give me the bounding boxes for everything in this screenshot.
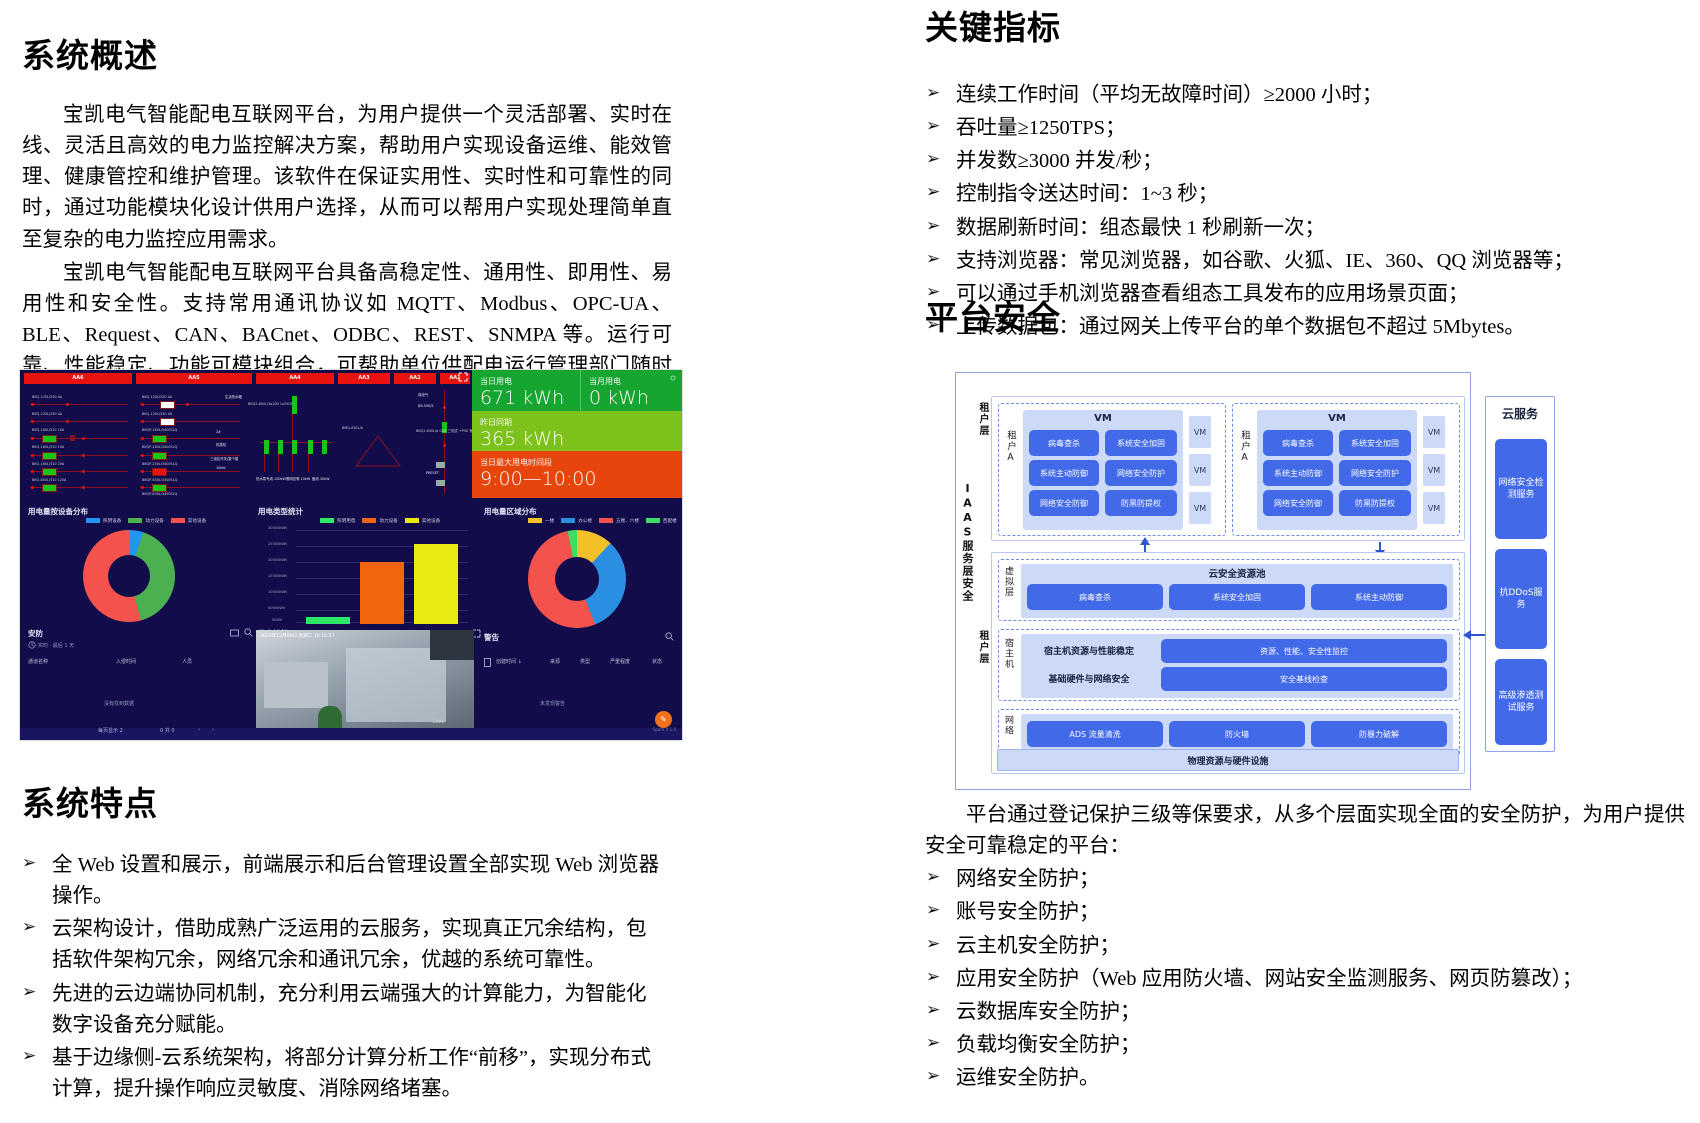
- camera-icon[interactable]: [230, 628, 239, 637]
- chart-title-device-distribution: 用电量按设备分布: [28, 506, 88, 517]
- chip-network-defense[interactable]: 网络安全防御: [1263, 490, 1333, 516]
- host-layer-strip: 宿主机 宿主机资源与性能稳定 基础硬件与网络安全 资源、性能、安全性监控 安全基…: [998, 629, 1460, 701]
- iaas-layer-label: IAAS服务层安全: [959, 482, 975, 603]
- chip-virus-scan[interactable]: 病毒查杀: [1027, 584, 1163, 610]
- list-item: ➢控制指令送达时间：1~3 秒；: [910, 179, 1700, 210]
- clock-icon: [28, 641, 36, 649]
- single-line-diagram: AA6 AA5 AA4 AA3 AA2 AA1 BKQ-125L/330 4A …: [20, 370, 472, 498]
- list-item: ➢云数据库安全防护；: [910, 997, 1700, 1028]
- side-vm: VM: [1423, 416, 1445, 448]
- bar-chart-usage-type: 30000kWh 25000kWh 20000kWh 15000kWh 1000…: [268, 528, 468, 624]
- cloud-services-panel: 云服务 网络安全检测服务 抗DDoS服务 高级渗透测试服务: [1485, 396, 1555, 752]
- arrow-bullet-icon: ➢: [926, 81, 940, 107]
- device-label: BKQ-800L/310 125A: [32, 478, 66, 482]
- network-layer-panel: ADS 流量清洗 防火墙 防暴力破解: [1021, 714, 1453, 754]
- arrow-bullet-icon: ➢: [926, 965, 940, 991]
- chip-system-hardening[interactable]: 系统安全加固: [1169, 584, 1305, 610]
- chip-network-defense[interactable]: 网络安全防御: [1029, 490, 1099, 516]
- vm-label: VM: [1257, 410, 1417, 426]
- cabinet-header: AA2: [394, 373, 436, 384]
- arrow-left-icon: [1463, 629, 1473, 641]
- side-vm: VM: [1423, 454, 1445, 486]
- security-text-block: 平台通过登记保护三级等保要求，从多个层面实现全面的安全防护，为用户提供安全可靠稳…: [900, 800, 1700, 1096]
- list-item: ➢并发数≥3000 并发/秒；: [910, 146, 1700, 177]
- arrow-bullet-icon: ➢: [926, 247, 940, 273]
- sld-note: 照明总等 10kW: [286, 476, 310, 481]
- panel-title-security: 安防: [28, 628, 43, 639]
- chip-system-hardening[interactable]: 系统安全加固: [1339, 430, 1411, 456]
- device-label: BKQ-125L/330 4A: [32, 412, 62, 416]
- chip-system-hardening[interactable]: 系统安全加固: [1105, 430, 1177, 456]
- host-label-resource: 宿主机资源与性能稳定: [1025, 644, 1153, 657]
- arrow-bullet-icon: ➢: [926, 898, 940, 924]
- warn-col-severity: 严重程度: [610, 658, 630, 665]
- page-title-metrics: 关键指标: [925, 10, 1061, 46]
- arrow-bullet-icon: ➢: [22, 980, 36, 1006]
- arrow-bullet-icon: ➢: [926, 865, 940, 891]
- arrow-bullet-icon: ➢: [926, 214, 940, 240]
- warn-empty-state: 未发现警告: [540, 700, 565, 707]
- list-item: ➢支持浏览器：常见浏览器，如谷歌、火狐、IE、360、QQ 浏览器等；: [910, 246, 1700, 277]
- chip-anti-brute-force[interactable]: 防暴力破解: [1311, 721, 1447, 747]
- sld-note: 热泵机: [216, 442, 226, 447]
- arrow-bullet-icon: ➢: [926, 114, 940, 140]
- side-vm: VM: [1189, 416, 1211, 448]
- host-layer-panel: 宿主机资源与性能稳定 基础硬件与网络安全 资源、性能、安全性监控 安全基线检查: [1021, 634, 1453, 698]
- panel-title-warning: 警告: [484, 632, 499, 643]
- list-item: ➢应用安全防护（Web 应用防火墙、网站安全监测服务、网页防篡改）；: [910, 964, 1700, 995]
- chip-resource-monitor[interactable]: 资源、性能、安全性监控: [1161, 639, 1447, 663]
- device-label: BKQ-160L/310 10A: [32, 445, 64, 449]
- kpi-today-usage: 当日用电 671 kWh: [472, 370, 580, 411]
- physical-layer-bar: 物理资源与硬件设施: [997, 749, 1459, 771]
- arrow-bullet-icon: ➢: [926, 1064, 940, 1090]
- list-item: ➢数据刷新时间：组态最快 1 秒刷新一次；: [910, 213, 1700, 244]
- warn-col-created: 创建时间 ↓: [496, 658, 522, 665]
- vm-group-2: VM 病毒查杀 系统安全加固 系统主动防御 网络安全防护 网络安全防御 防黑防提…: [1257, 410, 1417, 530]
- device-label: BKQP-630L/3400SLQ: [142, 478, 177, 482]
- alarm-col-channel: 通道名称: [28, 658, 48, 665]
- tenant-a-2: 租户A VM 病毒查杀 系统安全加固 系统主动防御 网络安全防护 网络安全防御 …: [1232, 403, 1460, 536]
- device-label: BKQ2-800L/3a200 1x250A: [248, 402, 293, 406]
- list-item: ➢云主机安全防护；: [910, 931, 1700, 962]
- device-label: BKQ-160L/310 20A: [32, 462, 64, 466]
- vm-group-1: VM 病毒查杀 系统安全加固 系统主动防御 网络安全防护 网络安全防御 防黑防提…: [1023, 410, 1183, 530]
- chip-active-defense[interactable]: 系统主动防御: [1311, 584, 1447, 610]
- cloud-service-penetration-test[interactable]: 高级渗透测试服务: [1495, 659, 1547, 745]
- footer-total: 0 共 0: [160, 727, 175, 734]
- page-title-security: 平台安全: [925, 300, 1061, 336]
- list-item: ➢负载均衡安全防护；: [910, 1030, 1700, 1061]
- arrow-bullet-icon: ➢: [22, 915, 36, 941]
- video-timestamp: 2020年12月08日 星期二 10:16:57: [260, 633, 335, 639]
- left-column: 系统概述 宝凯电气智能配电互联网平台，为用户提供一个灵活部署、实时在线、灵活且高…: [0, 0, 760, 1123]
- tenant-layer-label-top: 租户层: [975, 402, 990, 437]
- kpi-tiles: 当日用电 671 kWh 当月用电 0 kWh 昨日同期 365 kWh 当日最…: [472, 370, 682, 498]
- transformer-symbol: [350, 432, 406, 472]
- cabinet-header: AA3: [338, 373, 390, 384]
- tenant-a-1: 租户A VM 病毒查杀 系统安全加固 系统主动防御 网络安全防护 网络安全防御 …: [998, 403, 1226, 536]
- list-item: ➢云架构设计，借助成熟广泛运用的云服务，实现真正冗余结构，包括软件架构冗余，网络…: [6, 914, 666, 976]
- security-paragraph: 平台通过登记保护三级等保要求，从多个层面实现全面的安全防护，为用户提供安全可靠稳…: [925, 800, 1685, 862]
- kpi-peak-period: 当日最大用电时间段 9:00—10:00: [472, 451, 682, 498]
- list-item: ➢吞吐量≥1250TPS；: [910, 113, 1700, 144]
- chart-legend-device: 照明设备 动力设备 其他设备: [86, 518, 206, 524]
- list-item: ➢先进的云边端协同机制，充分利用云端强大的计算能力，为智能化数字设备充分赋能。: [6, 979, 666, 1041]
- video-feed[interactable]: 2020年12月08日 星期二 10:16:57 Cam1: [256, 630, 474, 740]
- list-item: ➢账号安全防护；: [910, 897, 1700, 928]
- arrow-bullet-icon: ➢: [926, 932, 940, 958]
- tenant-layer-label-bottom: 租户层: [975, 630, 990, 665]
- arrow-bullet-icon: ➢: [22, 1044, 36, 1070]
- arrow-bullet-icon: ➢: [926, 180, 940, 206]
- arrow-bullet-icon: ➢: [926, 147, 940, 173]
- security-list: ➢网络安全防护； ➢账号安全防护； ➢云主机安全防护； ➢应用安全防护（Web …: [900, 864, 1700, 1094]
- cloud-service-network-detection[interactable]: 网络安全检测服务: [1495, 439, 1547, 539]
- arrow-bullet-icon: ➢: [22, 851, 36, 877]
- settings-icon[interactable]: [668, 373, 678, 383]
- chip-active-defense[interactable]: 系统主动防御: [1029, 460, 1099, 486]
- cloud-services-title: 云服务: [1486, 397, 1554, 428]
- chart-title-area-distribution: 用电量区域分布: [484, 506, 537, 517]
- side-vm: VM: [1189, 492, 1211, 524]
- arrow-bullet-icon: ➢: [926, 998, 940, 1024]
- search-icon[interactable]: [665, 632, 674, 641]
- footer-page-size[interactable]: 每页显示 2: [98, 727, 123, 734]
- overview-paragraph-1: 宝凯电气智能配电互联网平台，为用户提供一个灵活部署、实时在线、灵活且高效的电力监…: [22, 100, 672, 256]
- alarm-empty-state: 没有找到数据: [104, 700, 134, 707]
- features-list: ➢全 Web 设置和展示，前端展示和后台管理设置全部实现 Web 浏览器操作。 …: [6, 850, 666, 1107]
- arrow-up-icon: [1139, 537, 1151, 547]
- pool-title: 云安全资源池: [1021, 564, 1453, 581]
- page-title-overview: 系统概述: [22, 38, 158, 74]
- chart-legend-area: 一楼 办公楼 五楼、六楼 西配楼: [528, 518, 677, 524]
- device-label: BKQP-630L/3400SLQ: [142, 492, 177, 496]
- warn-col-source: 来源: [550, 658, 560, 665]
- sld-note: 2#: [216, 430, 221, 434]
- device-label: BKQ-160L/310 10A: [32, 428, 64, 432]
- sld-note: 10kW: [216, 466, 226, 470]
- sld-note: 热水泵专用 100kW: [256, 476, 286, 481]
- list-item: ➢网络安全防护；: [910, 864, 1700, 895]
- document-icon: [484, 658, 491, 667]
- page-title-features: 系统特点: [22, 786, 158, 822]
- cabinet-header: AA6: [24, 373, 132, 384]
- chip-anti-privilege-escalation[interactable]: 防黑防提权: [1105, 490, 1177, 516]
- chip-virus-scan[interactable]: 病毒查杀: [1263, 430, 1333, 456]
- sld-note: 生活热水箱: [225, 394, 242, 399]
- device-label: BKQP-250L/3400SLQ: [142, 462, 177, 466]
- device-label: BKQP-160L/3400SLQ: [142, 445, 177, 449]
- sld-note: 三相总开关/整个楼: [210, 456, 238, 461]
- alarm-subtitle: 实时 · 最后 1 天: [38, 642, 74, 649]
- edit-fab-button[interactable]: ✎: [655, 711, 672, 728]
- tenant-name: 租户A: [1238, 430, 1251, 465]
- infrastructure-container: 虚拟层 云安全资源池 病毒查杀 系统安全加固 系统主动防御 宿主机 宿主机资源与…: [991, 552, 1465, 774]
- host-label-hardware: 基础硬件与网络安全: [1025, 672, 1153, 685]
- warn-col-type: 类型: [580, 658, 590, 665]
- chip-anti-privilege-escalation[interactable]: 防黑防提权: [1339, 490, 1411, 516]
- cabinet-header: AA5: [136, 373, 252, 384]
- slide-page: 系统概述 宝凯电气智能配电互联网平台，为用户提供一个灵活部署、实时在线、灵活且高…: [0, 0, 1700, 1123]
- virtual-layer-strip: 虚拟层 云安全资源池 病毒查杀 系统安全加固 系统主动防御: [998, 559, 1460, 621]
- network-layer-label: 网络: [1003, 715, 1015, 736]
- chip-ads-traffic-cleaning[interactable]: ADS 流量清洗: [1027, 721, 1163, 747]
- search-icon[interactable]: [244, 628, 253, 637]
- chip-active-defense[interactable]: 系统主动防御: [1263, 460, 1333, 486]
- cabinet-header: AA4: [256, 373, 334, 384]
- chip-baseline-check[interactable]: 安全基线检查: [1161, 667, 1447, 691]
- alarm-col-time: 入侵时间: [116, 658, 136, 665]
- footer-next-page[interactable]: ›: [212, 727, 214, 733]
- sld-note: 备用 30kW: [312, 476, 330, 481]
- kpi-yesterday-usage: 昨日同期 365 kWh: [472, 411, 682, 451]
- security-architecture-diagram: IAAS服务层安全 租户层 租户层 租户A VM 病毒查杀 系统安全加固 系统主…: [955, 372, 1555, 790]
- footer-prev-page[interactable]: ‹: [198, 727, 200, 733]
- virtual-layer-label: 虚拟层: [1003, 566, 1015, 598]
- tenant-container: 租户A VM 病毒查杀 系统安全加固 系统主动防御 网络安全防护 网络安全防御 …: [991, 396, 1465, 541]
- list-item: ➢运维安全防护。: [910, 1063, 1700, 1094]
- kpi-month-usage: 当月用电 0 kWh: [580, 370, 682, 411]
- warn-col-status: 状态: [652, 658, 662, 665]
- chart-title-usage-type: 用电类型统计: [258, 506, 303, 517]
- chip-network-protection[interactable]: 网络安全防护: [1339, 460, 1411, 486]
- arrow-bullet-icon: ➢: [926, 1031, 940, 1057]
- list-item: ➢基于边缘侧-云系统架构，将部分计算分析工作“前移”，实现分布式计算，提升操作响…: [6, 1043, 666, 1105]
- vm-label: VM: [1023, 410, 1183, 426]
- footer-version: Spare V 1.0: [653, 727, 676, 732]
- cloud-security-pool: 云安全资源池 病毒查杀 系统安全加固 系统主动防御: [1021, 564, 1453, 618]
- side-vm: VM: [1423, 492, 1445, 524]
- device-label: BKQ-125L/330 4A: [142, 395, 172, 399]
- chart-legend-usage-type: 照明用电 动力设备 其他设备: [320, 518, 440, 524]
- chip-virus-scan[interactable]: 病毒查杀: [1029, 430, 1099, 456]
- host-layer-label: 宿主机: [1003, 638, 1015, 670]
- dashboard-screenshot: AA6 AA5 AA4 AA3 AA2 AA1 BKQ-125L/330 4A …: [20, 370, 682, 740]
- device-label: BKQ-125L/330 4A: [32, 395, 62, 399]
- cloud-service-anti-ddos[interactable]: 抗DDoS服务: [1495, 549, 1547, 649]
- list-item: ➢连续工作时间（平均无故障时间）≥2000 小时；: [910, 80, 1700, 111]
- arrow-left-shaft: [1471, 634, 1485, 636]
- chip-network-protection[interactable]: 网络安全防护: [1105, 460, 1177, 486]
- alarm-col-person: 人员: [182, 658, 192, 665]
- tenant-name: 租户A: [1004, 430, 1017, 465]
- list-item: ➢全 Web 设置和展示，前端展示和后台管理设置全部实现 Web 浏览器操作。: [6, 850, 666, 912]
- device-label: BKQP-160L/3400SLQ: [142, 428, 177, 432]
- device-label: BKQ-125L/330 4A: [142, 412, 172, 416]
- expand-icon[interactable]: [458, 372, 468, 382]
- chip-firewall[interactable]: 防火墙: [1169, 721, 1305, 747]
- side-vm: VM: [1189, 454, 1211, 486]
